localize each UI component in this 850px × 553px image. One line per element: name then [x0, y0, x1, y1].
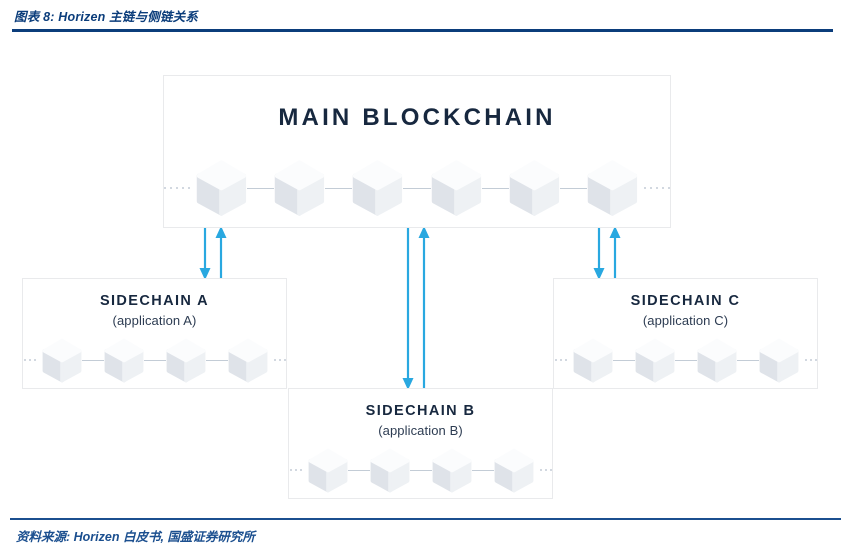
- sidechain-c-cube-row: [554, 337, 817, 383]
- chain-continuation-dots: [290, 469, 302, 471]
- blockchain-block-cube: [635, 338, 675, 383]
- chain-link: [560, 188, 587, 189]
- blockchain-block-cube: [352, 159, 403, 217]
- sidechain-a-subtitle: (application A): [23, 313, 286, 328]
- chain-link: [247, 188, 274, 189]
- sidechain-b-title: SIDECHAIN B: [289, 403, 552, 419]
- sidechain-b-box: SIDECHAIN B (application B): [288, 388, 553, 499]
- chain-continuation-dots: [274, 359, 286, 361]
- chain-link: [737, 360, 759, 361]
- chain-continuation-dots: [164, 187, 190, 189]
- chain-link: [410, 470, 432, 471]
- chain-continuation-dots: [24, 359, 36, 361]
- blockchain-block-cube: [759, 338, 799, 383]
- blockchain-block-cube: [228, 338, 268, 383]
- chain-continuation-dots: [540, 469, 552, 471]
- chain-link: [144, 360, 166, 361]
- blockchain-block-cube: [308, 448, 348, 493]
- chain-link: [482, 188, 509, 189]
- connector-main-to-sidechain-c: [589, 222, 629, 284]
- sidechain-a-box: SIDECHAIN A (application A): [22, 278, 287, 389]
- main-blockchain-box: MAIN BLOCKCHAIN: [163, 75, 671, 228]
- sidechain-c-box: SIDECHAIN C (application C): [553, 278, 818, 389]
- connector-main-to-sidechain-b: [398, 222, 438, 394]
- chain-continuation-dots: [644, 187, 670, 189]
- chain-link: [206, 360, 228, 361]
- blockchain-block-cube: [196, 159, 247, 217]
- figure-caption: 图表 8: Horizen 主链与侧链关系: [14, 6, 198, 25]
- blockchain-block-cube: [370, 448, 410, 493]
- chain-link: [403, 188, 430, 189]
- chain-continuation-dots: [555, 359, 567, 361]
- sidechain-b-subtitle: (application B): [289, 423, 552, 438]
- chain-link: [348, 470, 370, 471]
- chain-link: [325, 188, 352, 189]
- chain-link: [82, 360, 104, 361]
- blockchain-block-cube: [587, 159, 638, 217]
- blockchain-block-cube: [274, 159, 325, 217]
- blockchain-block-cube: [573, 338, 613, 383]
- blockchain-block-cube: [166, 338, 206, 383]
- sidechain-a-title: SIDECHAIN A: [23, 293, 286, 309]
- chain-link: [675, 360, 697, 361]
- chain-link: [613, 360, 635, 361]
- chain-link: [472, 470, 494, 471]
- chain-continuation-dots: [805, 359, 817, 361]
- source-divider: [10, 518, 841, 520]
- blockchain-block-cube: [42, 338, 82, 383]
- blockchain-block-cube: [697, 338, 737, 383]
- connector-main-to-sidechain-a: [195, 222, 235, 284]
- sidechain-b-cube-row: [289, 447, 552, 493]
- sidechain-c-title: SIDECHAIN C: [554, 293, 817, 309]
- blockchain-block-cube: [509, 159, 560, 217]
- source-text: 资料来源: Horizen 白皮书, 国盛证券研究所: [16, 526, 255, 545]
- blockchain-block-cube: [104, 338, 144, 383]
- main-blockchain-title: MAIN BLOCKCHAIN: [164, 104, 670, 132]
- sidechain-c-subtitle: (application C): [554, 313, 817, 328]
- blockchain-block-cube: [432, 448, 472, 493]
- blockchain-block-cube: [431, 159, 482, 217]
- main-blockchain-cube-row: [164, 158, 670, 218]
- sidechain-a-cube-row: [23, 337, 286, 383]
- caption-divider: [12, 29, 833, 32]
- sidechain-architecture-diagram: MAIN BLOCKCHAIN SIDECHAIN A (application…: [0, 36, 850, 514]
- blockchain-block-cube: [494, 448, 534, 493]
